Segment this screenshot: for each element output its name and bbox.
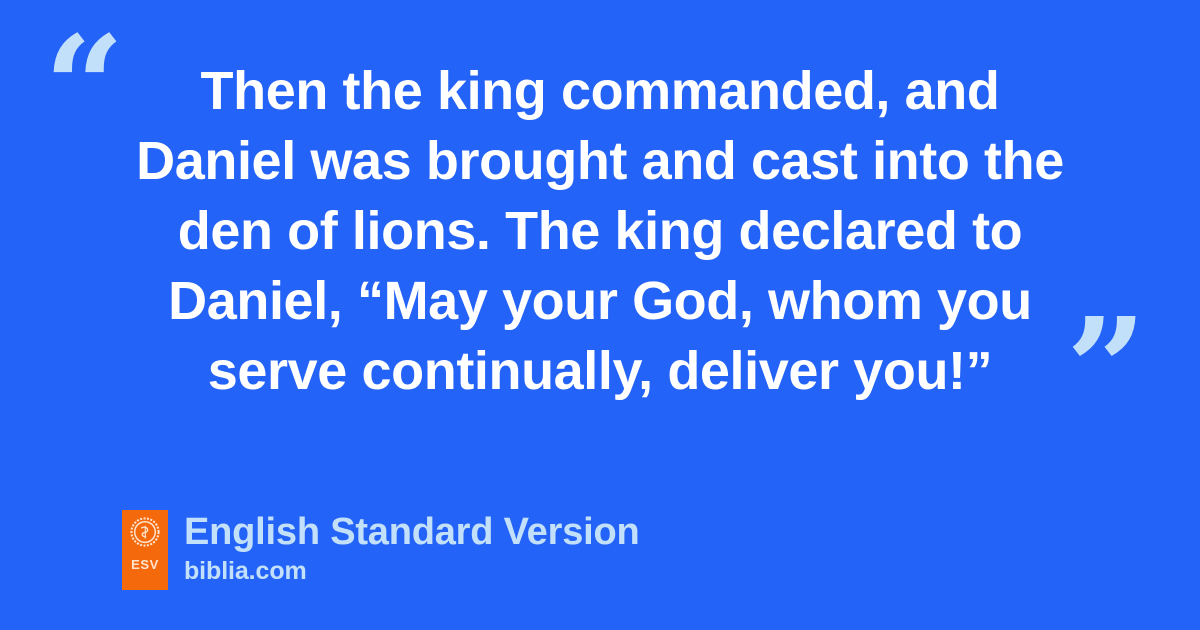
site-url: biblia.com <box>184 557 640 586</box>
quote-text: Then the king commanded, and Daniel was … <box>120 56 1080 406</box>
attribution-text: English Standard Version biblia.com <box>184 510 640 586</box>
esv-badge: ESV <box>122 510 168 590</box>
esv-seal-icon <box>130 517 160 547</box>
closing-quote-icon: ” <box>1066 300 1147 440</box>
quote-line: serve continually, deliver you!” <box>120 336 1080 406</box>
bible-version-name: English Standard Version <box>184 510 640 554</box>
quote-line: den of lions. The king declared to <box>120 196 1080 266</box>
quote-line: Daniel was brought and cast into the <box>120 126 1080 196</box>
bible-verse-quote-card: “ Then the king commanded, and Daniel wa… <box>0 0 1200 630</box>
opening-quote-icon: “ <box>44 18 125 158</box>
quote-line: Then the king commanded, and <box>120 56 1080 126</box>
esv-badge-label: ESV <box>131 558 159 571</box>
quote-line: Daniel, “May your God, whom you <box>120 266 1080 336</box>
attribution: ESV English Standard Version biblia.com <box>122 510 640 590</box>
